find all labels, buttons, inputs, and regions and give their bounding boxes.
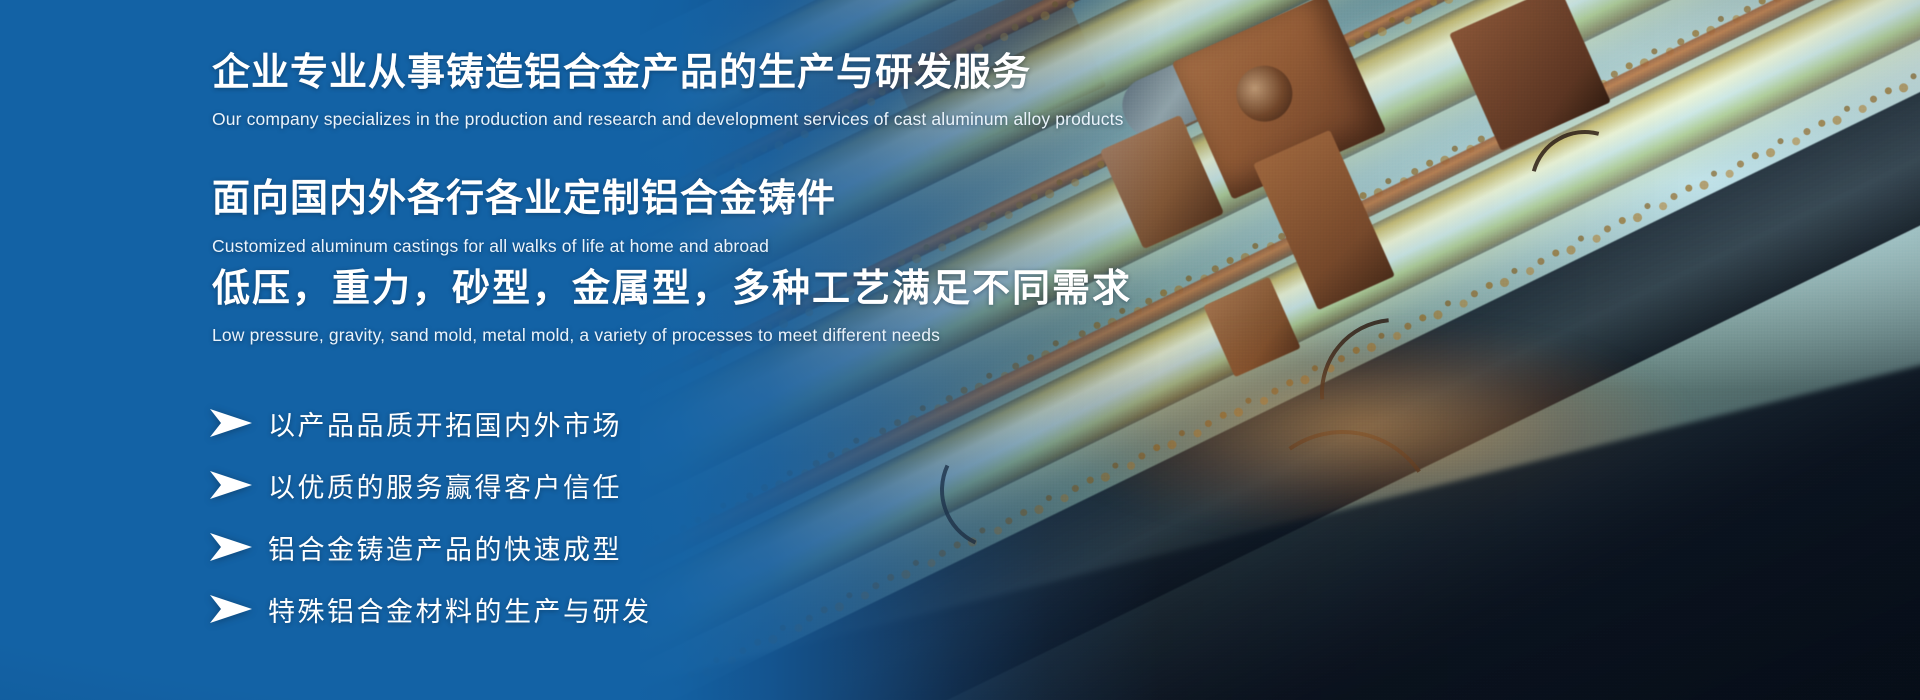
arrow-right-icon <box>208 408 254 438</box>
headline-1-en: Our company specializes in the productio… <box>212 108 1124 131</box>
list-item-label: 以优质的服务赢得客户信任 <box>268 466 622 505</box>
feature-list: 以产品品质开拓国内外市场 以优质的服务赢得客户信任 铝合金铸造产品的快速成型 <box>208 400 652 648</box>
hero-banner: 企业专业从事铸造铝合金产品的生产与研发服务 Our company specia… <box>0 0 1920 700</box>
headline-block-1: 企业专业从事铸造铝合金产品的生产与研发服务 Our company specia… <box>212 52 1124 130</box>
headline-2-cn: 面向国内外各行各业定制铝合金铸件 <box>212 178 836 222</box>
list-item-label: 特殊铝合金材料的生产与研发 <box>268 590 652 629</box>
list-item-label: 铝合金铸造产品的快速成型 <box>268 528 622 567</box>
headline-3-cn: 低压，重力，砂型，金属型，多种工艺满足不同需求 <box>212 268 1132 312</box>
arrow-right-icon <box>208 532 254 562</box>
list-item[interactable]: 特殊铝合金材料的生产与研发 <box>208 586 652 632</box>
list-item[interactable]: 铝合金铸造产品的快速成型 <box>208 524 652 570</box>
headline-block-2: 面向国内外各行各业定制铝合金铸件 Customized aluminum cas… <box>212 178 836 257</box>
list-item[interactable]: 以优质的服务赢得客户信任 <box>208 462 652 508</box>
headline-block-3: 低压，重力，砂型，金属型，多种工艺满足不同需求 Low pressure, gr… <box>212 268 1132 346</box>
arrow-right-icon <box>208 594 254 624</box>
list-item[interactable]: 以产品品质开拓国内外市场 <box>208 400 652 446</box>
headline-1-cn: 企业专业从事铸造铝合金产品的生产与研发服务 <box>212 52 1124 96</box>
arrow-right-icon <box>208 470 254 500</box>
banner-content: 企业专业从事铸造铝合金产品的生产与研发服务 Our company specia… <box>212 0 1512 700</box>
list-item-label: 以产品品质开拓国内外市场 <box>268 404 622 443</box>
headline-3-en: Low pressure, gravity, sand mold, metal … <box>212 324 1132 347</box>
headline-2-en: Customized aluminum castings for all wal… <box>212 235 836 258</box>
